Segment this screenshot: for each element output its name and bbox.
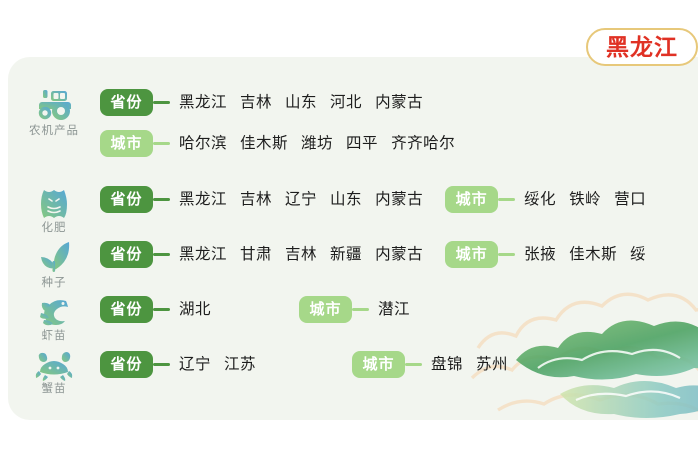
value-item[interactable]: 潍坊 (301, 135, 333, 152)
value-item[interactable]: 河北 (330, 94, 362, 111)
province-values: 黑龙江甘肃吉林新疆内蒙古 (179, 247, 423, 263)
value-item[interactable]: 营口 (614, 191, 646, 208)
province-badge[interactable]: 省份 (100, 351, 153, 378)
page-title: 黑龙江 (606, 36, 678, 59)
value-item[interactable]: 山东 (330, 191, 362, 208)
value-item[interactable]: 山东 (285, 94, 317, 111)
province-values: 黑龙江吉林山东河北内蒙古 (179, 95, 423, 111)
table-row: 种子 省份 黑龙江甘肃吉林新疆内蒙古 城市 张掖佳木斯绥 (8, 237, 698, 290)
city-values: 张掖佳木斯绥 (524, 247, 646, 263)
row-data-cell: 省份 黑龙江吉林辽宁山东内蒙古 城市 绥化铁岭营口 (100, 182, 698, 213)
row-data-cell: 省份 辽宁江苏 城市 盘锦苏州 (100, 347, 698, 378)
row-data-cell: 省份 湖北 城市 潜江 (100, 292, 698, 323)
value-item[interactable]: 内蒙古 (375, 191, 423, 208)
value-item[interactable]: 四平 (346, 135, 378, 152)
connector-dash (153, 198, 170, 201)
city-badge[interactable]: 城市 (100, 130, 153, 157)
province-badge[interactable]: 省份 (100, 89, 153, 116)
value-item[interactable]: 绥 (630, 246, 646, 263)
province-city-line: 省份 黑龙江甘肃吉林新疆内蒙古 城市 张掖佳木斯绥 (100, 241, 698, 268)
city-badge[interactable]: 城市 (299, 296, 352, 323)
row-data-cell: 省份 黑龙江吉林山东河北内蒙古 城市 哈尔滨佳木斯潍坊四平齐齐哈尔 (100, 85, 698, 157)
value-item[interactable]: 哈尔滨 (179, 135, 227, 152)
city-badge[interactable]: 城市 (445, 241, 498, 268)
value-item[interactable]: 黑龙江 (179, 94, 227, 111)
value-item[interactable]: 绥化 (524, 191, 556, 208)
table-row: 化肥 省份 黑龙江吉林辽宁山东内蒙古 城市 绥化铁岭营口 (8, 182, 698, 235)
value-item[interactable]: 甘肃 (240, 246, 272, 263)
value-item[interactable]: 吉林 (285, 246, 317, 263)
region-title-pill: 黑龙江 (586, 28, 698, 66)
province-values: 黑龙江吉林辽宁山东内蒙古 (179, 192, 423, 208)
connector-dash (153, 142, 170, 145)
value-item[interactable]: 辽宁 (179, 356, 211, 373)
product-rows: 农机产品 省份 黑龙江吉林山东河北内蒙古 城市 哈尔滨佳木斯潍坊四平齐齐哈尔 (8, 57, 698, 420)
city-badge[interactable]: 城市 (352, 351, 405, 378)
value-item[interactable]: 张掖 (524, 246, 556, 263)
city-line: 城市 哈尔滨佳木斯潍坊四平齐齐哈尔 (100, 130, 698, 157)
province-badge[interactable]: 省份 (100, 241, 153, 268)
row-icon-cell: 虾苗 (8, 292, 100, 343)
province-line: 省份 黑龙江吉林山东河北内蒙古 (100, 89, 698, 116)
value-item[interactable]: 吉林 (240, 94, 272, 111)
row-icon-cell: 化肥 (8, 182, 100, 235)
value-item[interactable]: 佳木斯 (240, 135, 288, 152)
province-city-line: 省份 湖北 城市 潜江 (100, 296, 698, 323)
connector-dash (153, 253, 170, 256)
value-item[interactable]: 江苏 (224, 356, 256, 373)
row-icon-cell: 农机产品 (8, 85, 100, 138)
icon-label: 蟹苗 (42, 384, 67, 396)
table-row: 虾苗 省份 湖北 城市 潜江 (8, 292, 698, 343)
value-item[interactable]: 佳木斯 (569, 246, 617, 263)
connector-dash (405, 363, 422, 366)
city-values: 哈尔滨佳木斯潍坊四平齐齐哈尔 (179, 136, 455, 152)
connector-dash (153, 363, 170, 366)
connector-dash (498, 253, 515, 256)
crab-icon (35, 349, 73, 381)
value-item[interactable]: 新疆 (330, 246, 362, 263)
value-item[interactable]: 潜江 (378, 301, 410, 318)
province-badge[interactable]: 省份 (100, 186, 153, 213)
value-item[interactable]: 黑龙江 (179, 246, 227, 263)
seedling-icon (37, 239, 71, 275)
value-item[interactable]: 湖北 (179, 301, 211, 318)
shrimp-icon (36, 294, 72, 328)
value-item[interactable]: 内蒙古 (375, 246, 423, 263)
tractor-icon (34, 87, 74, 123)
value-item[interactable]: 内蒙古 (375, 94, 423, 111)
value-item[interactable]: 铁岭 (569, 191, 601, 208)
province-city-line: 省份 辽宁江苏 城市 盘锦苏州 (100, 351, 698, 378)
table-row: 农机产品 省份 黑龙江吉林山东河北内蒙古 城市 哈尔滨佳木斯潍坊四平齐齐哈尔 (8, 85, 698, 157)
value-item[interactable]: 吉林 (240, 191, 272, 208)
icon-label: 虾苗 (42, 331, 67, 343)
city-badge[interactable]: 城市 (445, 186, 498, 213)
icon-label: 化肥 (42, 223, 67, 235)
value-item[interactable]: 黑龙江 (179, 191, 227, 208)
table-row: 蟹苗 省份 辽宁江苏 城市 盘锦苏州 (8, 347, 698, 396)
value-item[interactable]: 盘锦 (431, 356, 463, 373)
value-item[interactable]: 齐齐哈尔 (391, 135, 455, 152)
icon-label: 农机产品 (29, 126, 79, 138)
connector-dash (352, 308, 369, 311)
city-values: 绥化铁岭营口 (524, 192, 646, 208)
province-city-line: 省份 黑龙江吉林辽宁山东内蒙古 城市 绥化铁岭营口 (100, 186, 698, 213)
province-values: 辽宁江苏 (179, 357, 256, 373)
connector-dash (498, 198, 515, 201)
row-data-cell: 省份 黑龙江甘肃吉林新疆内蒙古 城市 张掖佳木斯绥 (100, 237, 698, 268)
value-item[interactable]: 苏州 (476, 356, 508, 373)
fertilizer-bag-icon (37, 184, 71, 220)
connector-dash (153, 308, 170, 311)
connector-dash (153, 101, 170, 104)
value-item[interactable]: 辽宁 (285, 191, 317, 208)
city-values: 潜江 (378, 302, 410, 318)
city-values: 盘锦苏州 (431, 357, 508, 373)
province-values: 湖北 (179, 302, 211, 318)
row-icon-cell: 种子 (8, 237, 100, 290)
content-card: 农机产品 省份 黑龙江吉林山东河北内蒙古 城市 哈尔滨佳木斯潍坊四平齐齐哈尔 (8, 57, 698, 420)
row-icon-cell: 蟹苗 (8, 347, 100, 396)
province-badge[interactable]: 省份 (100, 296, 153, 323)
icon-label: 种子 (42, 278, 67, 290)
